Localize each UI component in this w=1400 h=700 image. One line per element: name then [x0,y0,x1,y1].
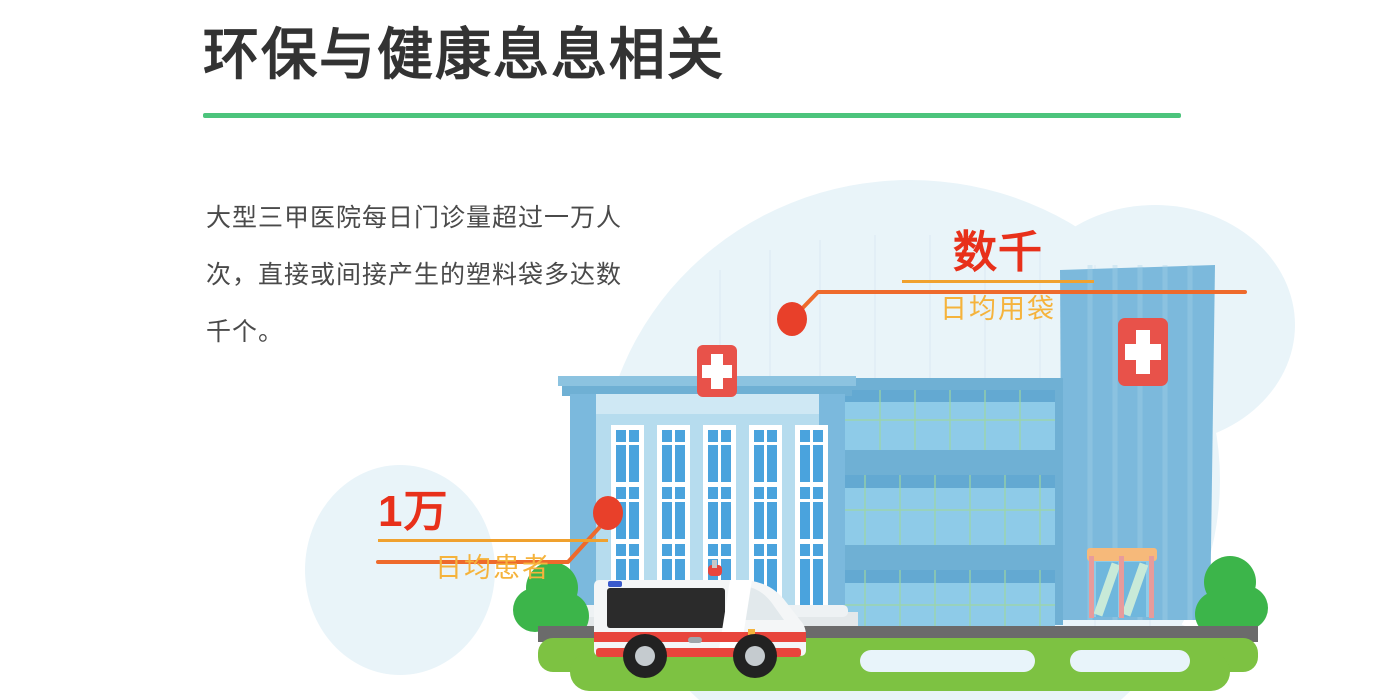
callout-bags: 数千 日均用袋 [902,228,1094,329]
page-title: 环保与健康息息相关 [203,21,725,89]
callout-patients-rule [378,539,608,542]
tower-cross-sign [1118,318,1168,386]
title-underline-rule [203,113,1181,118]
callout-patients-label: 日均患者 [378,548,608,588]
tower-entrance [1087,548,1157,618]
callout-bags-label: 日均用袋 [902,289,1094,329]
illustration-container [300,150,1400,700]
roof-cross-sign [697,345,737,397]
callout-bags-rule [902,280,1094,283]
callout-patients-value: 1万 [378,487,608,537]
slide-canvas: 环保与健康息息相关 大型三甲医院每日门诊量超过一万人次，直接或间接产生的塑料袋多… [0,0,1400,700]
callout-patients: 1万 日均患者 [378,487,608,588]
callout-bags-value: 数千 [902,228,1094,278]
callout-marker-bags [777,302,807,336]
